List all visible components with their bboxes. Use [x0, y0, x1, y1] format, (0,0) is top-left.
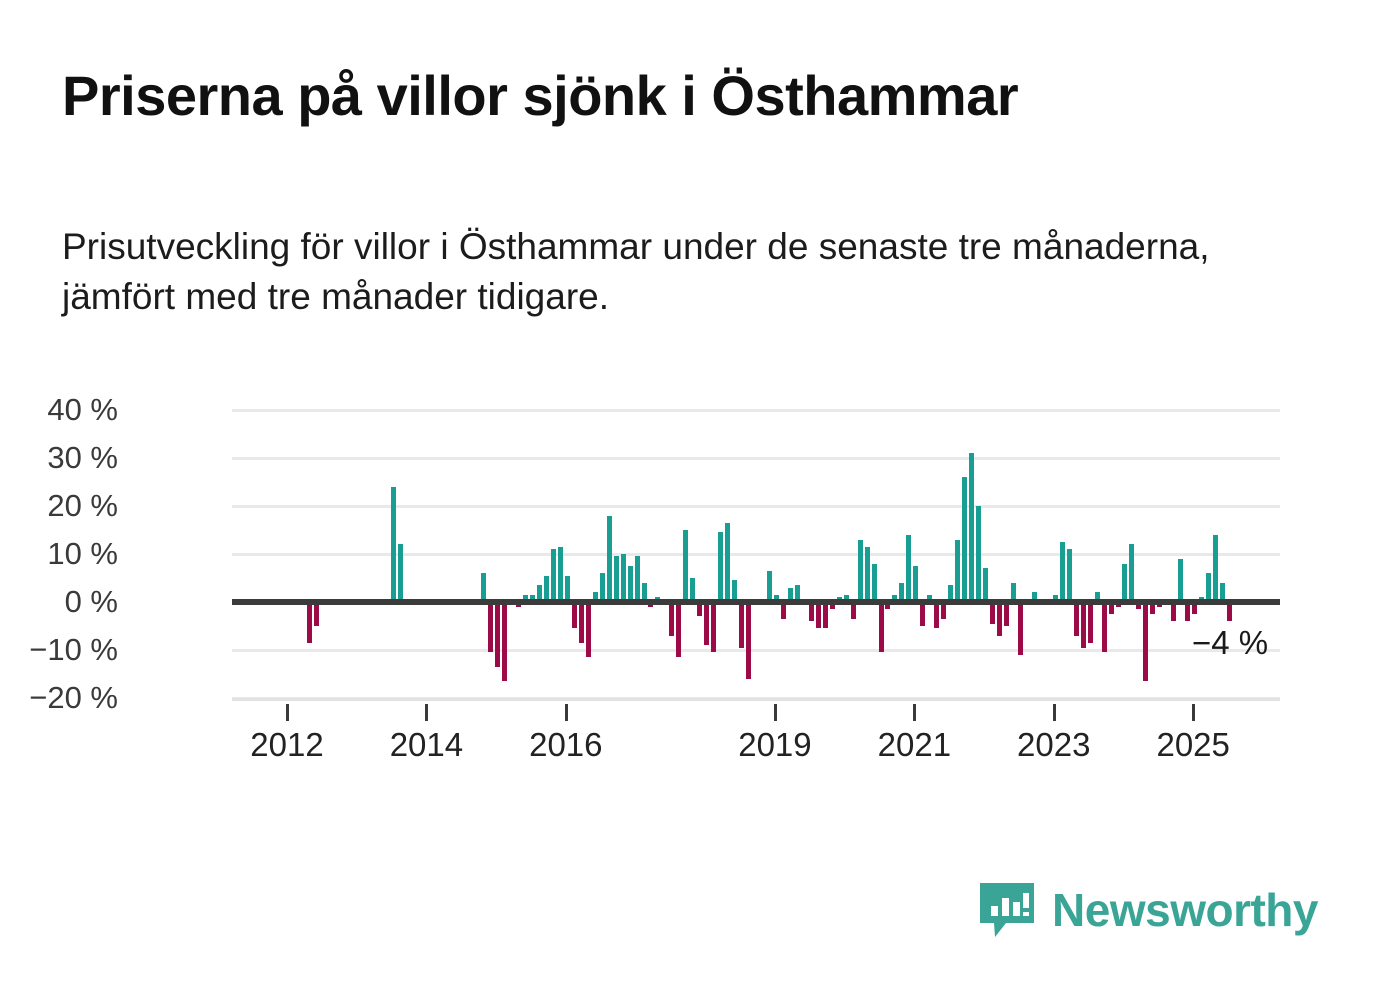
bar [1178, 559, 1183, 602]
bar [711, 602, 716, 652]
bar [997, 602, 1002, 636]
bar [920, 602, 925, 626]
bar [1074, 602, 1079, 636]
x-axis-label: 2021 [878, 726, 951, 764]
bar [579, 602, 584, 643]
bar [1122, 564, 1127, 602]
x-axis-tick [774, 704, 777, 721]
x-axis-label: 2014 [390, 726, 463, 764]
bar [676, 602, 681, 657]
bar [502, 602, 507, 681]
page-subtitle: Prisutveckling för villor i Östhammar un… [62, 222, 1322, 322]
bar [307, 602, 312, 643]
bar [879, 602, 884, 652]
bar [906, 535, 911, 602]
page-title: Priserna på villor sjönk i Östhammar [62, 66, 1342, 126]
bar [669, 602, 674, 636]
x-axis-label: 2019 [738, 726, 811, 764]
bar [858, 540, 863, 602]
y-axis-label: 20 % [47, 488, 118, 524]
bar [391, 487, 396, 602]
bar [572, 602, 577, 628]
bar [1060, 542, 1065, 602]
bar [628, 566, 633, 602]
zero-line [232, 599, 1280, 605]
y-axis-label: −10 % [29, 632, 118, 668]
bar [488, 602, 493, 652]
bar [481, 573, 486, 602]
bar-chart-speech-bubble-icon [976, 879, 1038, 941]
bar [955, 540, 960, 602]
x-axis-tick [1192, 704, 1195, 721]
bar [495, 602, 500, 667]
x-axis-line [232, 698, 1280, 701]
x-axis: 2012201420162019202120232025 [232, 698, 1280, 758]
bar [614, 556, 619, 602]
x-axis-tick [913, 704, 916, 721]
bar [934, 602, 939, 628]
x-axis-tick [425, 704, 428, 721]
y-axis-label: 10 % [47, 536, 118, 572]
bar-series [286, 410, 1234, 698]
bar [1067, 549, 1072, 602]
bar-chart: 40 %30 %20 %10 %0 %−10 %−20 % 2012201420… [0, 380, 1382, 780]
logo-text: Newsworthy [1052, 883, 1318, 937]
bar [586, 602, 591, 657]
x-axis-tick [286, 704, 289, 721]
bar [1088, 602, 1093, 643]
x-axis-tick [1053, 704, 1056, 721]
bar [1081, 602, 1086, 648]
bar [990, 602, 995, 624]
bar [607, 516, 612, 602]
y-axis-label: 30 % [47, 440, 118, 476]
bar [962, 477, 967, 602]
bar [1143, 602, 1148, 681]
bar [767, 571, 772, 602]
bar [558, 547, 563, 602]
y-axis-label: 0 % [65, 584, 118, 620]
bar [739, 602, 744, 648]
bar [865, 547, 870, 602]
bar [718, 532, 723, 602]
bar [746, 602, 751, 679]
bar [969, 453, 974, 602]
y-axis-label: −20 % [29, 680, 118, 716]
bar [1129, 544, 1134, 602]
bar [1018, 602, 1023, 655]
plot-area: 40 %30 %20 %10 %0 %−10 %−20 % [232, 410, 1280, 698]
bar [600, 573, 605, 602]
x-axis-label: 2016 [529, 726, 602, 764]
bar [913, 566, 918, 602]
bar [872, 564, 877, 602]
bar [1102, 602, 1107, 652]
bar [635, 556, 640, 602]
bar [823, 602, 828, 628]
x-axis-tick [565, 704, 568, 721]
bar [976, 506, 981, 602]
x-axis-label: 2012 [250, 726, 323, 764]
bar [983, 568, 988, 602]
bar [1004, 602, 1009, 626]
bar [1206, 573, 1211, 602]
bar [621, 554, 626, 602]
bar [398, 544, 403, 602]
bar [1213, 535, 1218, 602]
bar [551, 549, 556, 602]
bar [683, 530, 688, 602]
bar [704, 602, 709, 645]
x-axis-label: 2023 [1017, 726, 1090, 764]
bar [314, 602, 319, 626]
newsworthy-logo: Newsworthy [976, 879, 1318, 941]
x-axis-label: 2025 [1156, 726, 1229, 764]
y-axis-label: 40 % [47, 392, 118, 428]
bar [816, 602, 821, 628]
bar [725, 523, 730, 602]
